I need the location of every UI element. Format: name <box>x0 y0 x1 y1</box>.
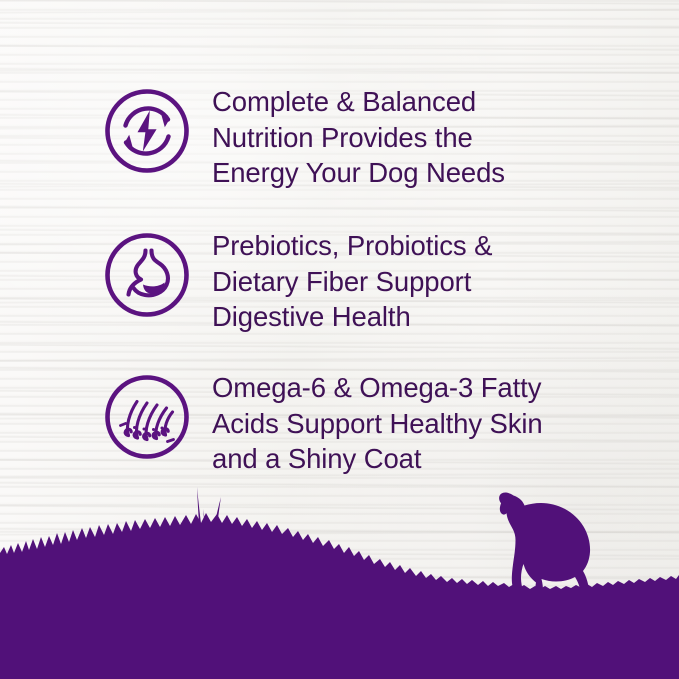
benefit-item-digestive: Prebiotics, Probiotics & Dietary Fiber S… <box>104 230 492 335</box>
benefit-text-digestive: Prebiotics, Probiotics & Dietary Fiber S… <box>212 227 492 335</box>
sitting-dog-silhouette <box>499 492 590 591</box>
benefit-text-energy: Complete & Balanced Nutrition Provides t… <box>212 83 505 191</box>
benefit-text-coat: Omega-6 & Omega-3 Fatty Acids Support He… <box>212 369 543 477</box>
hair-follicle-coat-icon <box>104 374 190 460</box>
stomach-digestive-icon <box>104 232 190 318</box>
energy-cycle-icon <box>104 88 190 174</box>
infographic-canvas: Complete & Balanced Nutrition Provides t… <box>0 0 679 679</box>
benefit-item-coat: Omega-6 & Omega-3 Fatty Acids Support He… <box>104 372 543 477</box>
bottom-scene <box>0 479 679 679</box>
benefit-item-energy: Complete & Balanced Nutrition Provides t… <box>104 86 505 191</box>
